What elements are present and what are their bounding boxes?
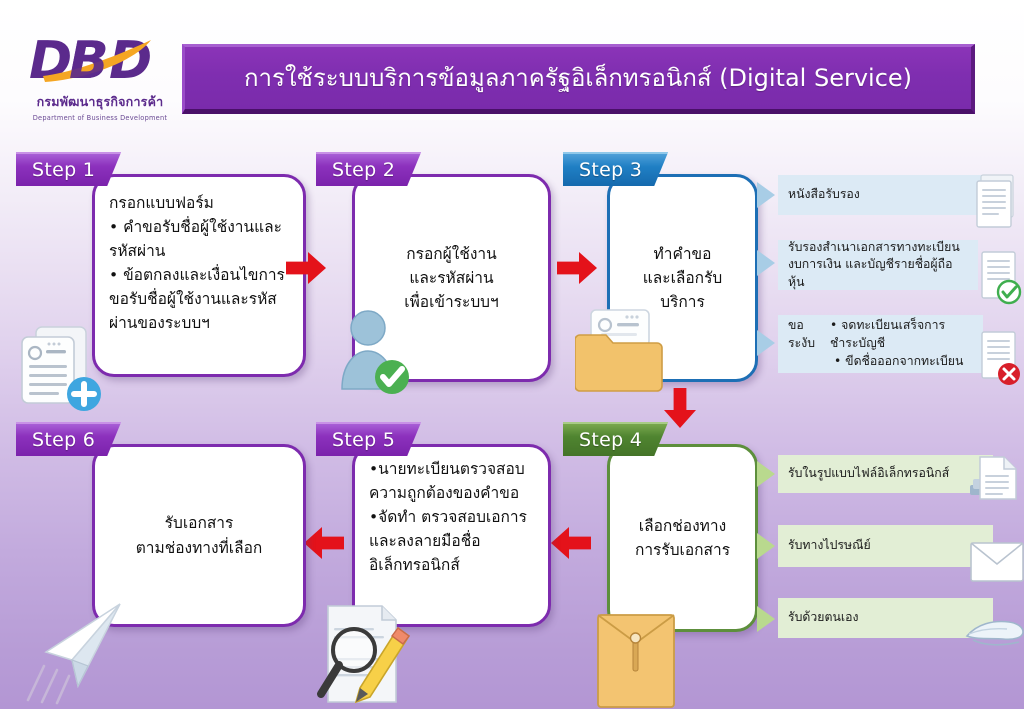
hand-pickup-icon [963, 610, 1024, 658]
step-3-tab: Step 3 [563, 152, 668, 186]
step-4-tab: Step 4 [563, 422, 668, 456]
step-2-line-1: กรอกผู้ใช้งาน [404, 242, 498, 266]
service-item-2-label: รับรองสำเนาเอกสารทางทะเบียน งบการเงิน แล… [788, 239, 968, 291]
svg-text:D: D [29, 32, 72, 91]
service-item-3-label: ขอระงับ [788, 317, 824, 353]
document-cancel-icon [978, 330, 1023, 392]
page-header: D B D B กรมพัฒนาธุรกิจการค้า Department … [0, 0, 1024, 140]
step-3-text: ทำคำขอ และเลือกรับ บริการ [643, 242, 722, 314]
digital-file-icon [968, 455, 1023, 510]
dbd-letters-icon: D B D B [25, 32, 175, 94]
service-item-3-bullet-1: • จดทะเบียนเสร็จการชำระบัญชี [830, 317, 973, 353]
step-5-line-1: •นายทะเบียนตรวจสอบความถูกต้องของคำขอ [369, 457, 538, 505]
service-item-1-label: หนังสือรับรอง [788, 186, 860, 204]
svg-text:B: B [69, 32, 109, 91]
delivery-item-1-label: รับในรูปแบบไฟล์อิเล็กทรอนิกส์ [788, 465, 949, 483]
delivery-item-2-label: รับทางไปรษณีย์ [788, 537, 871, 555]
step-card-5[interactable]: Step 5 •นายทะเบียนตรวจสอบความถูกต้องของค… [316, 422, 551, 627]
delivery-item-2[interactable]: รับทางไปรษณีย์ [778, 525, 993, 567]
step-6-line-2: ตามช่องทางที่เลือก [136, 536, 263, 560]
step-4-line-1: เลือกช่องทาง [635, 514, 730, 538]
step-5-body: •นายทะเบียนตรวจสอบความถูกต้องของคำขอ •จั… [352, 444, 551, 627]
step-5-text: •นายทะเบียนตรวจสอบความถูกต้องของคำขอ •จั… [355, 447, 548, 577]
step-4-body: เลือกช่องทาง การรับเอกสาร [607, 444, 758, 632]
stacked-document-icon [975, 173, 1020, 233]
step-3-line-2: และเลือกรับ [643, 266, 722, 290]
step-1-line-3: • ข้อตกลงและเงื่อนไขการขอรับชื่อผู้ใช้งา… [109, 263, 291, 335]
step-6-tab: Step 6 [16, 422, 121, 456]
delivery-item-3-label: รับด้วยตนเอง [788, 609, 859, 627]
step-2-text: กรอกผู้ใช้งาน และรหัสผ่าน เพื่อเข้าระบบฯ [404, 242, 498, 314]
step-4-line-2: การรับเอกสาร [635, 538, 730, 562]
step-1-text: กรอกแบบฟอร์ม • คำขอรับชื่อผู้ใช้งานและรห… [95, 177, 303, 335]
step-6-text: รับเอกสาร ตามช่องทางที่เลือก [136, 511, 263, 559]
step-1-body: กรอกแบบฟอร์ม • คำขอรับชื่อผู้ใช้งานและรห… [92, 174, 306, 377]
step-5-line-2: •จัดทำ ตรวจสอบเอการและลงลายมือชื่ออิเล็ก… [369, 505, 538, 577]
service-item-3-arrow-icon [757, 330, 775, 356]
dbd-logo-mark: D B D B [25, 32, 175, 94]
step-1-line-1: กรอกแบบฟอร์ม [109, 191, 291, 215]
folder-document-icon [575, 305, 667, 395]
step-4-text: เลือกช่องทาง การรับเอกสาร [635, 514, 730, 562]
step-3-line-1: ทำคำขอ [643, 242, 722, 266]
service-item-3[interactable]: ขอระงับ • จดทะเบียนเสร็จการชำระบัญชี • ข… [778, 315, 983, 373]
paper-plane-icon [24, 600, 134, 705]
service-item-1[interactable]: หนังสือรับรอง [778, 175, 988, 215]
step-2-line-2: และรหัสผ่าน [404, 266, 498, 290]
envelope-icon [596, 613, 676, 709]
user-verified-icon [336, 305, 422, 397]
title-banner: การใช้ระบบบริการข้อมูลภาครัฐอิเล็กทรอนิก… [182, 44, 975, 114]
step-1-line-2: • คำขอรับชื่อผู้ใช้งานและรหัสผ่าน [109, 215, 291, 263]
step-2-tab: Step 2 [316, 152, 421, 186]
service-item-2-arrow-icon [757, 250, 775, 276]
page-title: การใช้ระบบบริการข้อมูลภาครัฐอิเล็กทรอนิก… [244, 65, 912, 91]
service-item-3-bullet-2: • ขีดชื่อออกจากทะเบียน [834, 354, 963, 368]
review-document-icon [312, 602, 416, 709]
step-1-tab: Step 1 [16, 152, 121, 186]
step-card-6[interactable]: Step 6 รับเอกสาร ตามช่องทางที่เลือก [16, 422, 306, 627]
service-item-2[interactable]: รับรองสำเนาเอกสารทางทะเบียน งบการเงิน แล… [778, 240, 978, 290]
documents-add-icon [8, 315, 108, 415]
step-5-tab: Step 5 [316, 422, 421, 456]
delivery-item-2-arrow-icon [757, 533, 775, 559]
step-card-4[interactable]: Step 4 เลือกช่องทาง การรับเอกสาร [563, 422, 758, 632]
delivery-item-3-arrow-icon [757, 606, 775, 632]
dbd-logo: D B D B กรมพัฒนาธุรกิจการค้า Department … [25, 32, 175, 124]
service-item-1-arrow-icon [757, 182, 775, 208]
mail-envelope-icon [970, 542, 1024, 582]
dbd-logo-english-name: Department of Business Development [25, 114, 175, 122]
delivery-item-3[interactable]: รับด้วยตนเอง [778, 598, 993, 638]
document-check-icon [978, 250, 1023, 308]
dbd-logo-thai-name: กรมพัฒนาธุรกิจการค้า [25, 92, 175, 112]
delivery-item-1[interactable]: รับในรูปแบบไฟล์อิเล็กทรอนิกส์ [778, 455, 993, 493]
delivery-item-1-arrow-icon [757, 461, 775, 487]
step-6-line-1: รับเอกสาร [136, 511, 263, 535]
